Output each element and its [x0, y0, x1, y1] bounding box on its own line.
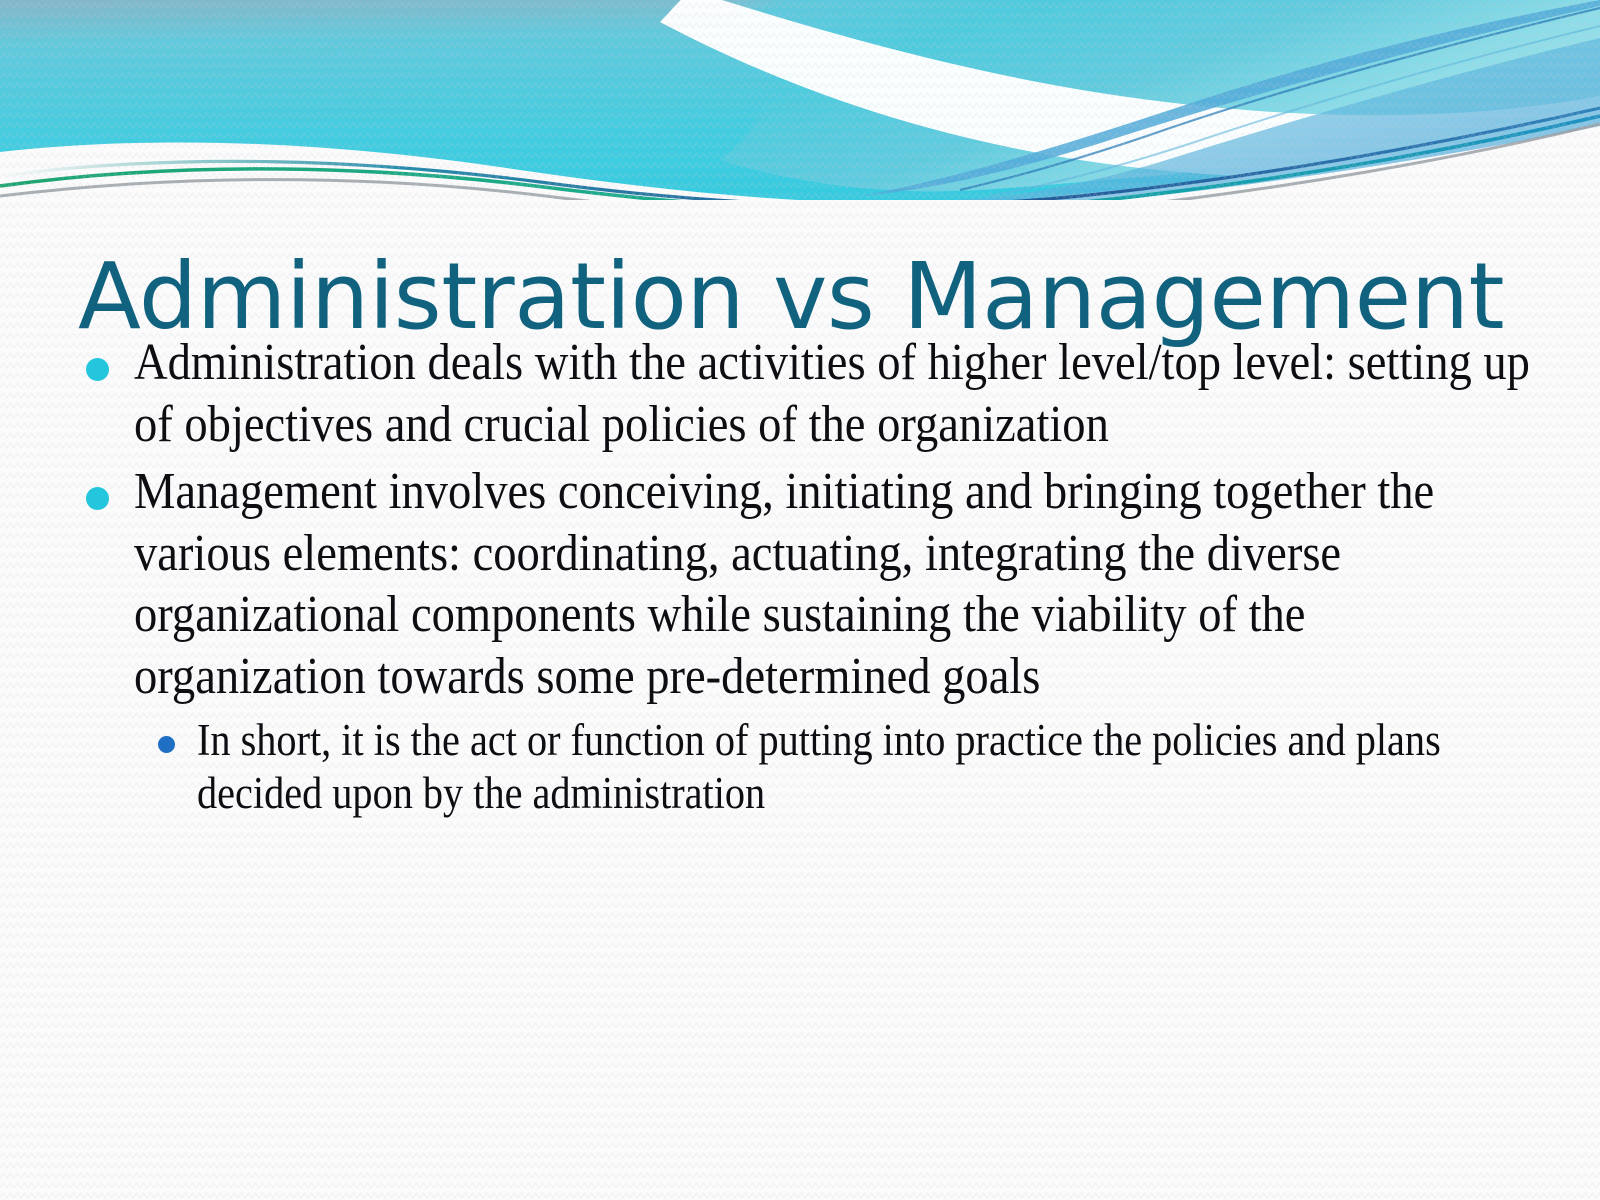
sub-bullet-item: In short, it is the act or function of p… — [158, 714, 1546, 821]
slide-body-content: Administration deals with the activities… — [86, 332, 1546, 821]
sub-bullet-text-inner: In short, it is the act or function of p… — [197, 714, 1546, 821]
bullet-text-inner: Management involves conceiving, initiati… — [134, 461, 1546, 707]
bullet-text: Management involves conceiving, initiati… — [134, 461, 1546, 707]
presentation-slide: Administration vs Management Administrat… — [0, 0, 1600, 1200]
blue-disc-bullet-icon — [158, 736, 175, 753]
bullet-item: Administration deals with the activities… — [86, 332, 1546, 455]
cyan-disc-bullet-icon — [86, 487, 109, 510]
cyan-disc-bullet-icon — [86, 358, 109, 381]
wave-header-band — [0, 0, 1600, 190]
bullet-text: Administration deals with the activities… — [134, 332, 1546, 455]
bullet-text-inner: Administration deals with the activities… — [134, 332, 1546, 455]
bullet-item: Management involves conceiving, initiati… — [86, 461, 1546, 707]
sub-bullet-text: In short, it is the act or function of p… — [197, 714, 1546, 821]
slide-title: Administration vs Management — [78, 249, 1518, 346]
